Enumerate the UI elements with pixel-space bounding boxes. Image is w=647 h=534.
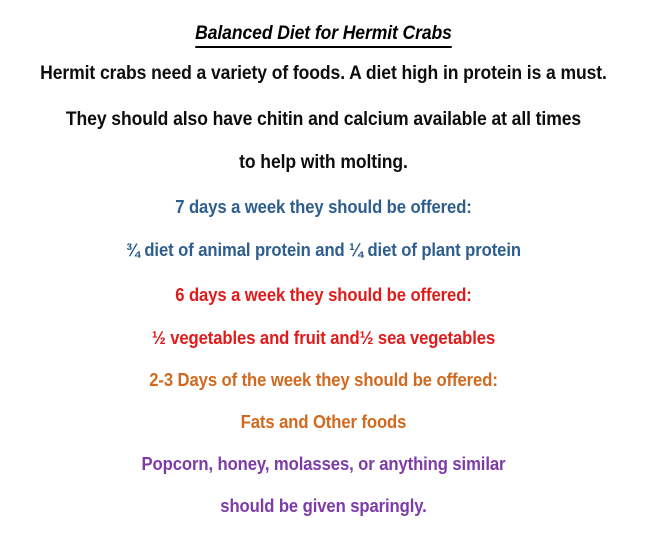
page-title: Balanced Diet for Hermit Crabs — [32, 22, 614, 48]
diet-infographic: Balanced Diet for Hermit Crabs Hermit cr… — [0, 0, 647, 534]
intro-line-1: Hermit crabs need a variety of foods. A … — [32, 62, 614, 85]
intro-line-3: to help with molting. — [32, 151, 614, 174]
section-six-day-vegetables-heading: 6 days a week they should be offered: — [32, 284, 614, 306]
section-daily-protein-detail: ¾ diet of animal protein and ¼ diet of p… — [32, 239, 614, 261]
section-six-day-vegetables-detail: ½ vegetables and fruit and½ sea vegetabl… — [32, 327, 614, 349]
section-sparing-treats-heading: Popcorn, honey, molasses, or anything si… — [32, 453, 614, 475]
section-occasional-fats-heading: 2-3 Days of the week they should be offe… — [32, 369, 614, 391]
section-occasional-fats-detail: Fats and Other foods — [32, 411, 614, 433]
page-title-text: Balanced Diet for Hermit Crabs — [195, 22, 452, 48]
section-sparing-treats-detail: should be given sparingly. — [32, 495, 614, 517]
intro-line-2: They should also have chitin and calcium… — [32, 108, 614, 131]
section-daily-protein-heading: 7 days a week they should be offered: — [32, 196, 614, 218]
